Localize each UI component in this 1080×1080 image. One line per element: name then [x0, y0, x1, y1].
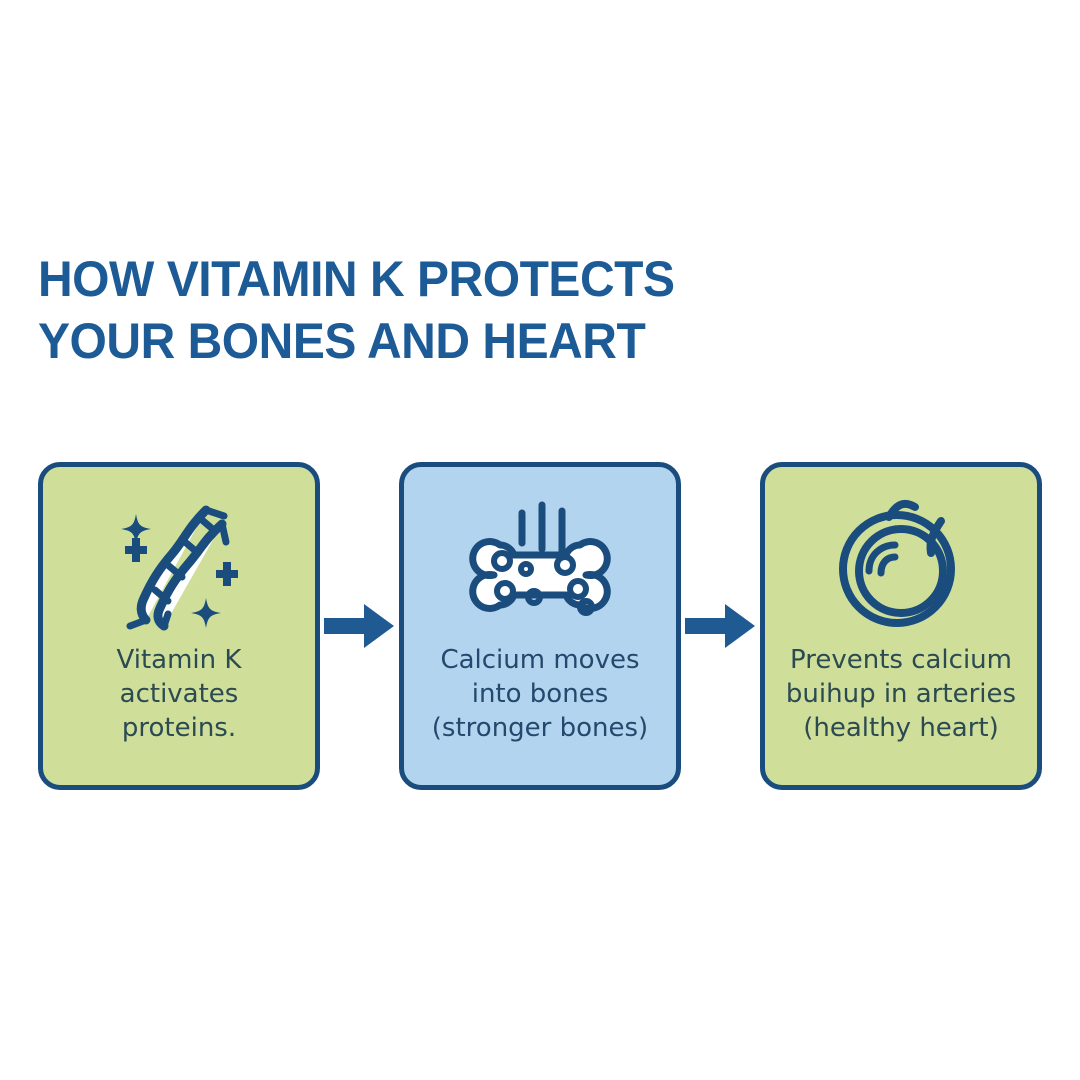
- card-text-line: (stronger bones): [432, 711, 648, 745]
- card-text-line: proteins.: [122, 711, 236, 745]
- card-text-line: (healthy heart): [803, 711, 999, 745]
- page-title: HOW VITAMIN K PROTECTS YOUR BONES AND HE…: [38, 248, 998, 372]
- flow-card-calcium-bones-text: Calcium moves into bones (stronger bones…: [432, 639, 648, 771]
- dna-helix-sparkle-icon: [114, 489, 244, 639]
- card-text-line: Prevents calcium: [790, 643, 1012, 677]
- arrow-right-icon: [324, 600, 396, 652]
- flow-arrow-2: [681, 462, 760, 790]
- bone-strength-icon: [460, 489, 620, 639]
- title-line-2: YOUR BONES AND HEART: [38, 310, 960, 372]
- card-text-line: into bones: [472, 677, 609, 711]
- flow-card-calcium-bones[interactable]: Calcium moves into bones (stronger bones…: [399, 462, 681, 790]
- card-text-line: Calcium moves: [440, 643, 639, 677]
- card-text-line: activates: [120, 677, 239, 711]
- arrow-right-icon: [685, 600, 757, 652]
- artery-cross-section-icon: [831, 489, 971, 639]
- flow-card-vitamin-k-text: Vitamin K activates proteins.: [117, 639, 242, 771]
- flow-card-vitamin-k[interactable]: Vitamin K activates proteins.: [38, 462, 320, 790]
- title-line-1: HOW VITAMIN K PROTECTS: [38, 248, 960, 310]
- infographic-canvas: HOW VITAMIN K PROTECTS YOUR BONES AND HE…: [0, 0, 1080, 1080]
- card-text-line: buihup in arteries: [786, 677, 1016, 711]
- flow-arrow-1: [320, 462, 399, 790]
- flow-card-artery-health-text: Prevents calcium buihup in arteries (hea…: [786, 639, 1016, 771]
- flow-diagram: Vitamin K activates proteins.: [38, 462, 1042, 790]
- card-text-line: Vitamin K: [117, 643, 242, 677]
- flow-card-artery-health[interactable]: Prevents calcium buihup in arteries (hea…: [760, 462, 1042, 790]
